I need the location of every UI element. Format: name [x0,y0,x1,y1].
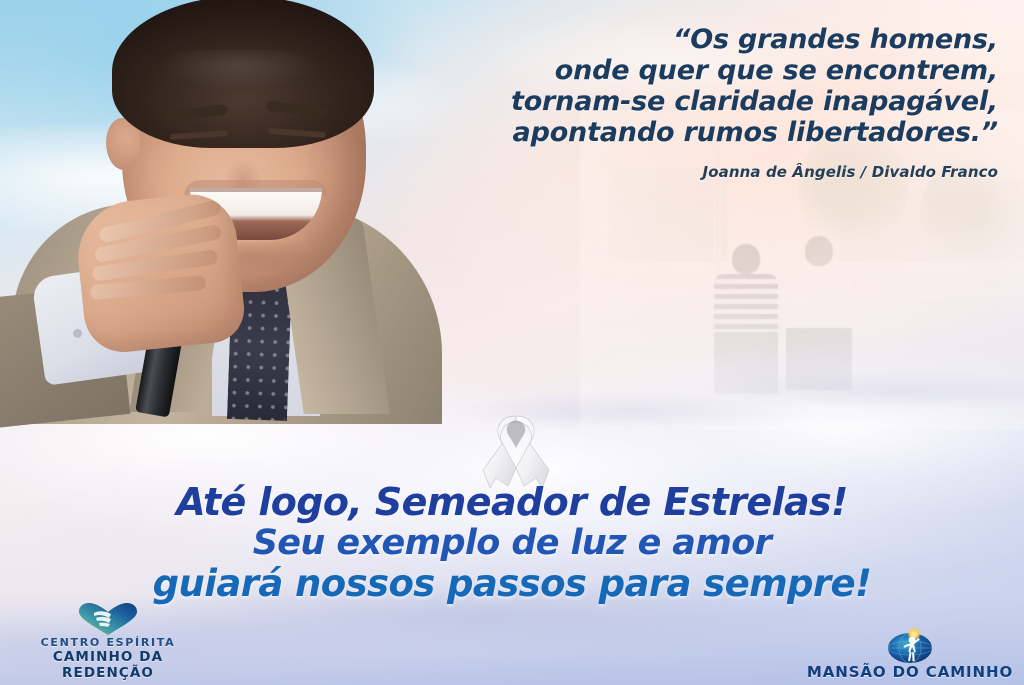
quote-line-4: apontando rumos libertadores.” [438,117,998,148]
logo-left-line-2: CAMINHO DA REDENÇÃO [8,649,208,681]
quote-block: “Os grandes homens, onde quer que se enc… [438,24,998,181]
quote-attribution: Joanna de Ângelis / Divaldo Franco [438,163,998,181]
globe-torch-figure-icon [804,629,1016,663]
white-ribbon-icon [478,408,554,490]
logo-mansao-do-caminho: MANSÃO DO CAMINHO [804,629,1016,681]
portrait-hair [112,0,374,148]
logo-centro-espirita-caminho-da-redencao: CENTRO ESPÍRITA CAMINHO DA REDENÇÃO [8,602,208,681]
quote-line-3: tornam-se claridade inapagável, [438,86,998,117]
headline-line-2: Seu exemplo de luz e amor [0,523,1024,563]
headline-line-3: guiará nossos passos para sempre! [0,563,1024,605]
tribute-poster: “Os grandes homens, onde quer que se enc… [0,0,1024,685]
heart-hands-icon [8,602,208,636]
logo-right-line-2: MANSÃO DO CAMINHO [804,663,1016,681]
quote-line-2: onde quer que se encontrem, [438,55,998,86]
quote-line-1: “Os grandes homens, [438,24,998,55]
headline-line-1: Até logo, Semeador de Estrelas! [0,482,1024,523]
headline-block: Até logo, Semeador de Estrelas! Seu exem… [0,482,1024,605]
logo-left-line-1: CENTRO ESPÍRITA [8,636,208,649]
portrait-divaldo-franco [0,0,474,412]
